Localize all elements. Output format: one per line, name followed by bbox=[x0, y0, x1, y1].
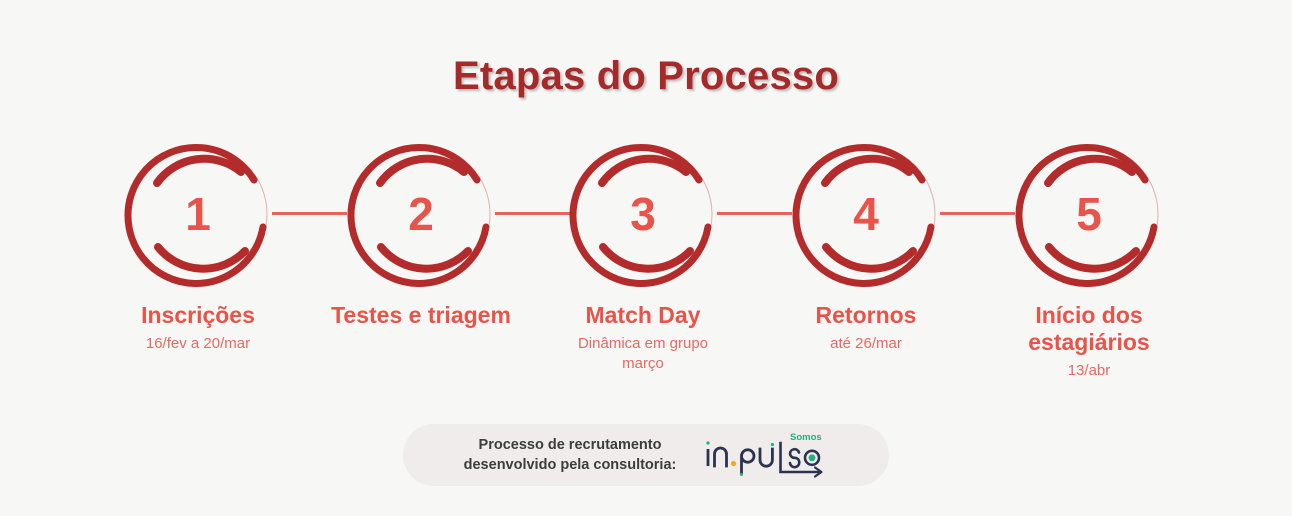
step-label-3: Match Day bbox=[532, 302, 755, 329]
process-step-1[interactable]: 1 Inscrições 16/fev a 20/mar bbox=[87, 139, 310, 354]
step-circle-3: 3 bbox=[568, 139, 718, 289]
step-circle-5: 5 bbox=[1014, 139, 1164, 289]
step-label-1: Inscrições bbox=[87, 302, 310, 329]
step-number-5: 5 bbox=[1014, 139, 1164, 289]
step-label-5: Início dos estagiários bbox=[978, 302, 1201, 356]
step-date-3: Dinâmica em grupo março bbox=[532, 334, 755, 373]
step-date-5: 13/abr bbox=[978, 361, 1201, 381]
process-step-5[interactable]: 5 Início dos estagiários 13/abr bbox=[978, 139, 1201, 381]
step-number-1: 1 bbox=[123, 139, 273, 289]
process-step-4[interactable]: 4 Retornos até 26/mar bbox=[755, 139, 978, 354]
step-circle-4: 4 bbox=[791, 139, 941, 289]
step-number-4: 4 bbox=[791, 139, 941, 289]
step-date-4: até 26/mar bbox=[755, 334, 978, 354]
footer-consultancy-bar: Processo de recrutamento desenvolvido pe… bbox=[403, 424, 889, 486]
step-label-2: Testes e triagem bbox=[310, 302, 533, 329]
step-number-3: 3 bbox=[568, 139, 718, 289]
process-step-3[interactable]: 3 Match Day Dinâmica em grupo março bbox=[532, 139, 755, 373]
step-date-1: 16/fev a 20/mar bbox=[87, 334, 310, 354]
logo-tagline-text: Somos bbox=[790, 432, 822, 443]
step-circle-1: 1 bbox=[123, 139, 273, 289]
process-step-2[interactable]: 2 Testes e triagem bbox=[310, 139, 533, 334]
step-number-2: 2 bbox=[346, 139, 496, 289]
inpulso-logo-mark: Somos bbox=[702, 429, 828, 481]
process-steps: 1 Inscrições 16/fev a 20/mar 2 Testes e … bbox=[0, 139, 1292, 399]
step-circle-2: 2 bbox=[346, 139, 496, 289]
footer-caption: Processo de recrutamento desenvolvido pe… bbox=[464, 435, 677, 475]
page-title: Etapas do Processo bbox=[0, 54, 1292, 99]
step-label-4: Retornos bbox=[755, 302, 978, 329]
inpulso-logo[interactable]: Somos bbox=[702, 429, 828, 481]
